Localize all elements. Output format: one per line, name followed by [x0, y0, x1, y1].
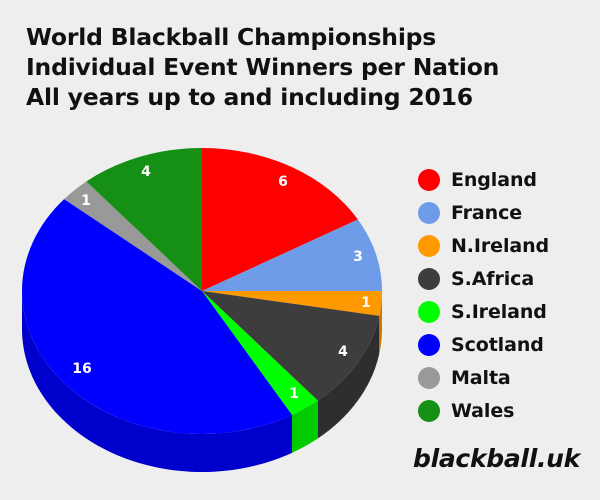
legend-swatch-icon — [418, 202, 440, 224]
legend-item-label: S.Africa — [451, 268, 534, 290]
legend-swatch-icon — [418, 367, 440, 389]
pie-top-surfaces — [22, 148, 382, 434]
legend-item-scotland[interactable]: Scotland — [418, 328, 598, 361]
legend-swatch-icon — [418, 334, 440, 356]
pie-label-england: 6 — [278, 174, 288, 190]
pie-label-malta: 1 — [81, 193, 91, 209]
watermark-blackball-uk: blackball.uk — [413, 444, 580, 473]
legend-swatch-icon — [418, 235, 440, 257]
legend-swatch-icon — [418, 301, 440, 323]
legend-item-france[interactable]: France — [418, 196, 598, 229]
legend-item-england[interactable]: England — [418, 163, 598, 196]
pie-chart-figure: World Blackball Championships Individual… — [0, 0, 600, 500]
legend-item-label: S.Ireland — [451, 301, 547, 323]
pie-label-scotland: 16 — [72, 361, 91, 377]
pie-label-n-ireland: 1 — [361, 295, 371, 311]
legend-item-n-ireland[interactable]: N.Ireland — [418, 229, 598, 262]
legend-item-label: Wales — [451, 400, 514, 422]
pie-svg: 631411614 — [0, 0, 420, 500]
legend-item-malta[interactable]: Malta — [418, 361, 598, 394]
legend-item-label: Scotland — [451, 334, 544, 356]
pie-label-s-africa: 4 — [338, 344, 348, 360]
pie-label-s-ireland: 1 — [289, 386, 299, 402]
pie-label-wales: 4 — [141, 164, 151, 180]
legend-item-s-africa[interactable]: S.Africa — [418, 262, 598, 295]
legend-swatch-icon — [418, 169, 440, 191]
legend-item-label: Malta — [451, 367, 511, 389]
legend-item-label: France — [451, 202, 522, 224]
legend-item-label: England — [451, 169, 537, 191]
legend-swatch-icon — [418, 400, 440, 422]
legend-swatch-icon — [418, 268, 440, 290]
pie-label-france: 3 — [353, 249, 363, 265]
chart-legend: EnglandFranceN.IrelandS.AfricaS.IrelandS… — [418, 163, 598, 427]
legend-item-wales[interactable]: Wales — [418, 394, 598, 427]
pie-plot-area: 631411614 — [0, 0, 420, 500]
legend-item-s-ireland[interactable]: S.Ireland — [418, 295, 598, 328]
legend-item-label: N.Ireland — [451, 235, 549, 257]
